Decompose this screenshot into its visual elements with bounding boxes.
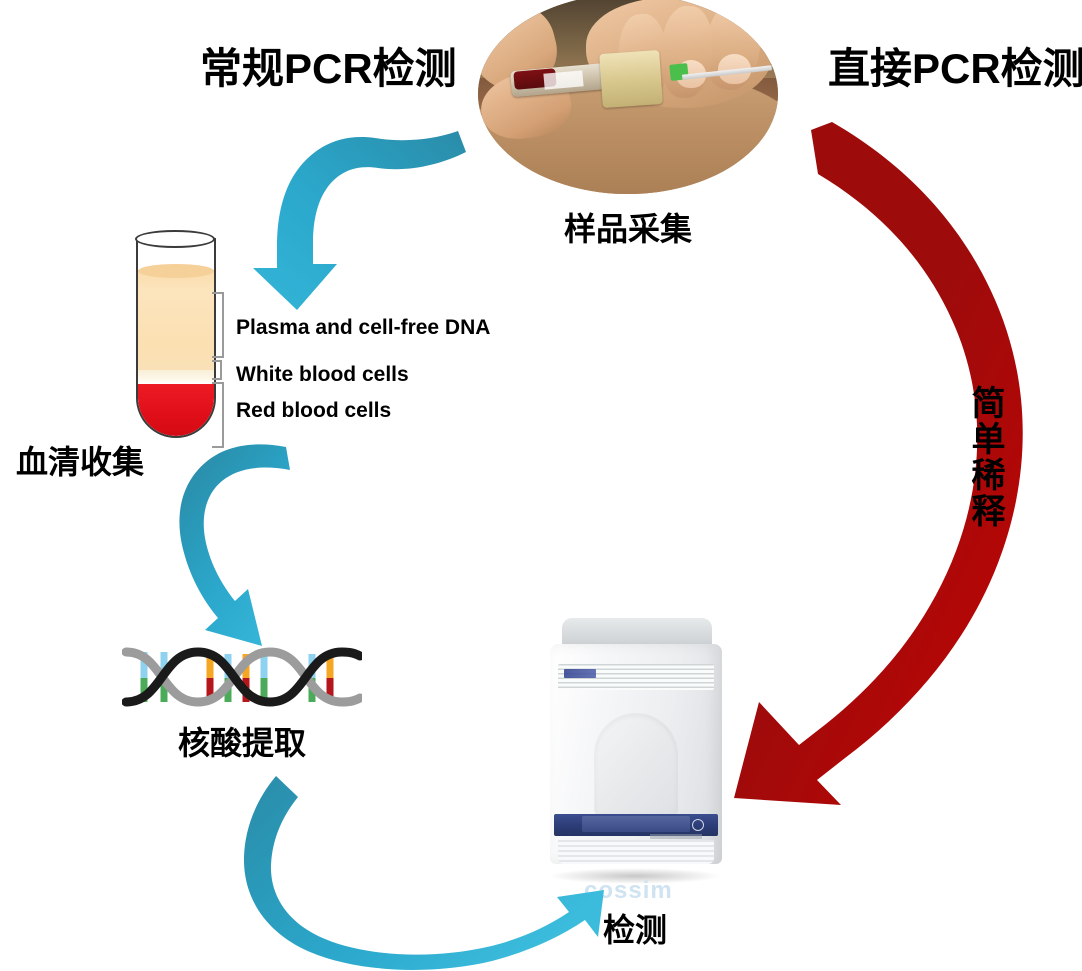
title-direct-pcr: 直接PCR检测	[828, 45, 1082, 93]
tube-plasma-meniscus	[138, 264, 214, 278]
instrument-sample-door	[595, 714, 677, 814]
simple-dilution-label: 简单稀释	[964, 385, 1006, 529]
pcr-instrument	[540, 618, 730, 886]
label-white-blood-cells: White blood cells	[236, 363, 409, 387]
bracket-white-blood-cells	[212, 360, 222, 380]
blood-draw-image	[478, 0, 778, 194]
arrow-tube-to-dna	[179, 444, 290, 646]
sample-collection-photo	[478, 0, 778, 194]
tube-buffy-coat-layer	[138, 370, 214, 384]
tube-red-cell-layer	[138, 384, 214, 436]
bracket-red-blood-cells	[212, 382, 224, 448]
instrument-base-grille	[558, 840, 714, 864]
label-red-blood-cells: Red blood cells	[236, 399, 391, 423]
power-icon	[692, 819, 704, 831]
tube-rim	[135, 230, 215, 248]
sample-collection-label: 样品采集	[478, 204, 778, 250]
instrument-brand-mark	[564, 669, 596, 678]
title-conventional-pcr: 常规PCR检测	[200, 45, 457, 93]
dna-double-helix-icon	[122, 638, 362, 716]
cossim-watermark: cossim	[584, 877, 673, 905]
tube-glass	[136, 238, 216, 438]
nucleic-acid-extraction-label: 核酸提取	[122, 718, 362, 764]
detection-label: 检测	[540, 905, 730, 951]
serum-collection-label: 血清收集	[16, 437, 144, 483]
tube-plasma-layer	[138, 270, 214, 370]
bracket-plasma	[212, 292, 224, 358]
label-plasma-cellfree-dna: Plasma and cell-free DNA	[236, 316, 490, 340]
blood-collection-tube	[136, 228, 218, 450]
workflow-diagram: 常规PCR检测 直接PCR检测 样品采集	[0, 0, 1082, 971]
arrow-sample-to-tube	[253, 131, 466, 310]
